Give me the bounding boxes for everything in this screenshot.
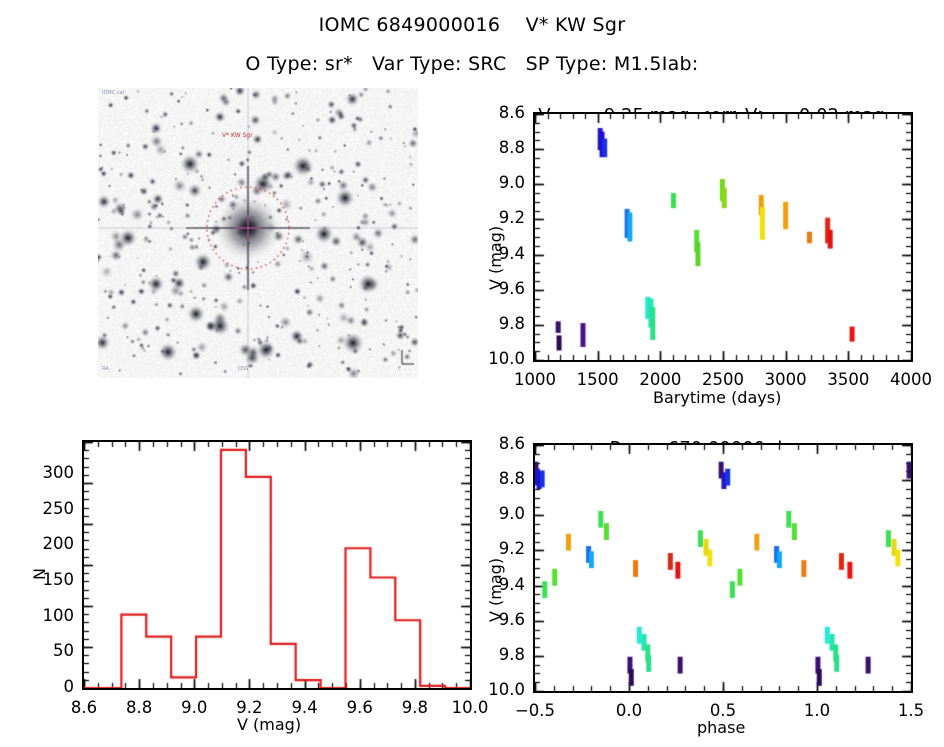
finder-object-label: V* KW Sgr	[222, 132, 253, 139]
histogram-x-axis-label: V (mag)	[237, 715, 301, 734]
object-type-line: O Type: sr* Var Type: SRC SP Type: M1.5I…	[0, 53, 944, 75]
lightcurve-xtick-6: 4000	[890, 370, 932, 389]
histogram-ytick-5: 250	[43, 499, 75, 518]
lightcurve-ytick-7: 10.0	[488, 349, 525, 368]
histogram-plot[interactable]	[82, 440, 472, 690]
phaseplot-ytick-3: 9.2	[499, 539, 525, 558]
lightcurve-xtick-4: 3000	[765, 370, 807, 389]
lightcurve-ytick-5: 9.6	[499, 279, 525, 298]
page-title: IOMC 6849000016 V* KW Sgr	[0, 14, 944, 36]
finder-chart[interactable]: V* KW Sgr IOMC cat RA DSS E	[98, 88, 418, 378]
histogram-ytick-0: 0	[64, 677, 75, 696]
phaseplot-ytick-5: 9.6	[499, 610, 525, 629]
histogram-xtick-0: 8.6	[71, 698, 97, 717]
lightcurve-xtick-0: 1000	[514, 370, 556, 389]
phaseplot-ytick-2: 9.0	[499, 504, 525, 523]
lightcurve-xtick-3: 2500	[702, 370, 744, 389]
finder-top-left-label: IOMC cat	[102, 90, 125, 96]
finder-survey-label: DSS	[238, 366, 248, 372]
phaseplot-ytick-0: 8.6	[499, 434, 525, 453]
finder-chart-canvas	[98, 88, 418, 378]
lightcurve-plot[interactable]	[533, 112, 913, 362]
histogram-xtick-6: 9.8	[402, 698, 428, 717]
histogram-ytick-1: 50	[53, 641, 74, 660]
histogram-xtick-2: 9.0	[181, 698, 207, 717]
histogram-xtick-4: 9.4	[291, 698, 317, 717]
histogram-ytick-3: 150	[43, 570, 75, 589]
lightcurve-ytick-2: 9.0	[499, 173, 525, 192]
phaseplot-xtick-3: 1.0	[804, 701, 830, 720]
histogram-canvas	[84, 442, 470, 688]
phaseplot-plot[interactable]	[533, 443, 913, 693]
phaseplot-xtick-1: 0.0	[616, 701, 642, 720]
finder-bottom-right-label: E	[398, 366, 401, 372]
finder-bottom-left-label: RA	[102, 366, 109, 372]
phaseplot-canvas	[535, 445, 911, 691]
lightcurve-ytick-4: 9.4	[499, 244, 525, 263]
lightcurve-ytick-3: 9.2	[499, 208, 525, 227]
histogram-ytick-4: 200	[43, 534, 75, 553]
lightcurve-xtick-1: 1500	[577, 370, 619, 389]
lightcurve-xtick-2: 2000	[639, 370, 681, 389]
figure-page: IOMC 6849000016 V* KW Sgr O Type: sr* Va…	[0, 0, 944, 747]
histogram-ytick-6: 300	[43, 463, 75, 482]
lightcurve-ytick-1: 8.8	[499, 138, 525, 157]
phaseplot-xtick-4: 1.5	[898, 701, 924, 720]
histogram-xtick-7: 10.0	[452, 698, 489, 717]
lightcurve-x-axis-label: Barytime (days)	[653, 388, 781, 407]
histogram-ytick-2: 100	[43, 606, 75, 625]
phaseplot-xtick-2: 0.5	[710, 701, 736, 720]
histogram-xtick-5: 9.6	[347, 698, 373, 717]
phaseplot-ytick-7: 10.0	[488, 680, 525, 699]
histogram-xtick-1: 8.8	[126, 698, 152, 717]
phaseplot-xtick-0: −0.5	[515, 701, 555, 720]
lightcurve-ytick-6: 9.8	[499, 314, 525, 333]
lightcurve-ytick-0: 8.6	[499, 103, 525, 122]
lightcurve-xtick-5: 3500	[827, 370, 869, 389]
phaseplot-ytick-4: 9.4	[499, 575, 525, 594]
histogram-xtick-3: 9.2	[236, 698, 262, 717]
phaseplot-x-axis-label: phase	[697, 718, 745, 737]
phaseplot-ytick-6: 9.8	[499, 645, 525, 664]
lightcurve-canvas	[535, 114, 911, 360]
phaseplot-ytick-1: 8.8	[499, 469, 525, 488]
